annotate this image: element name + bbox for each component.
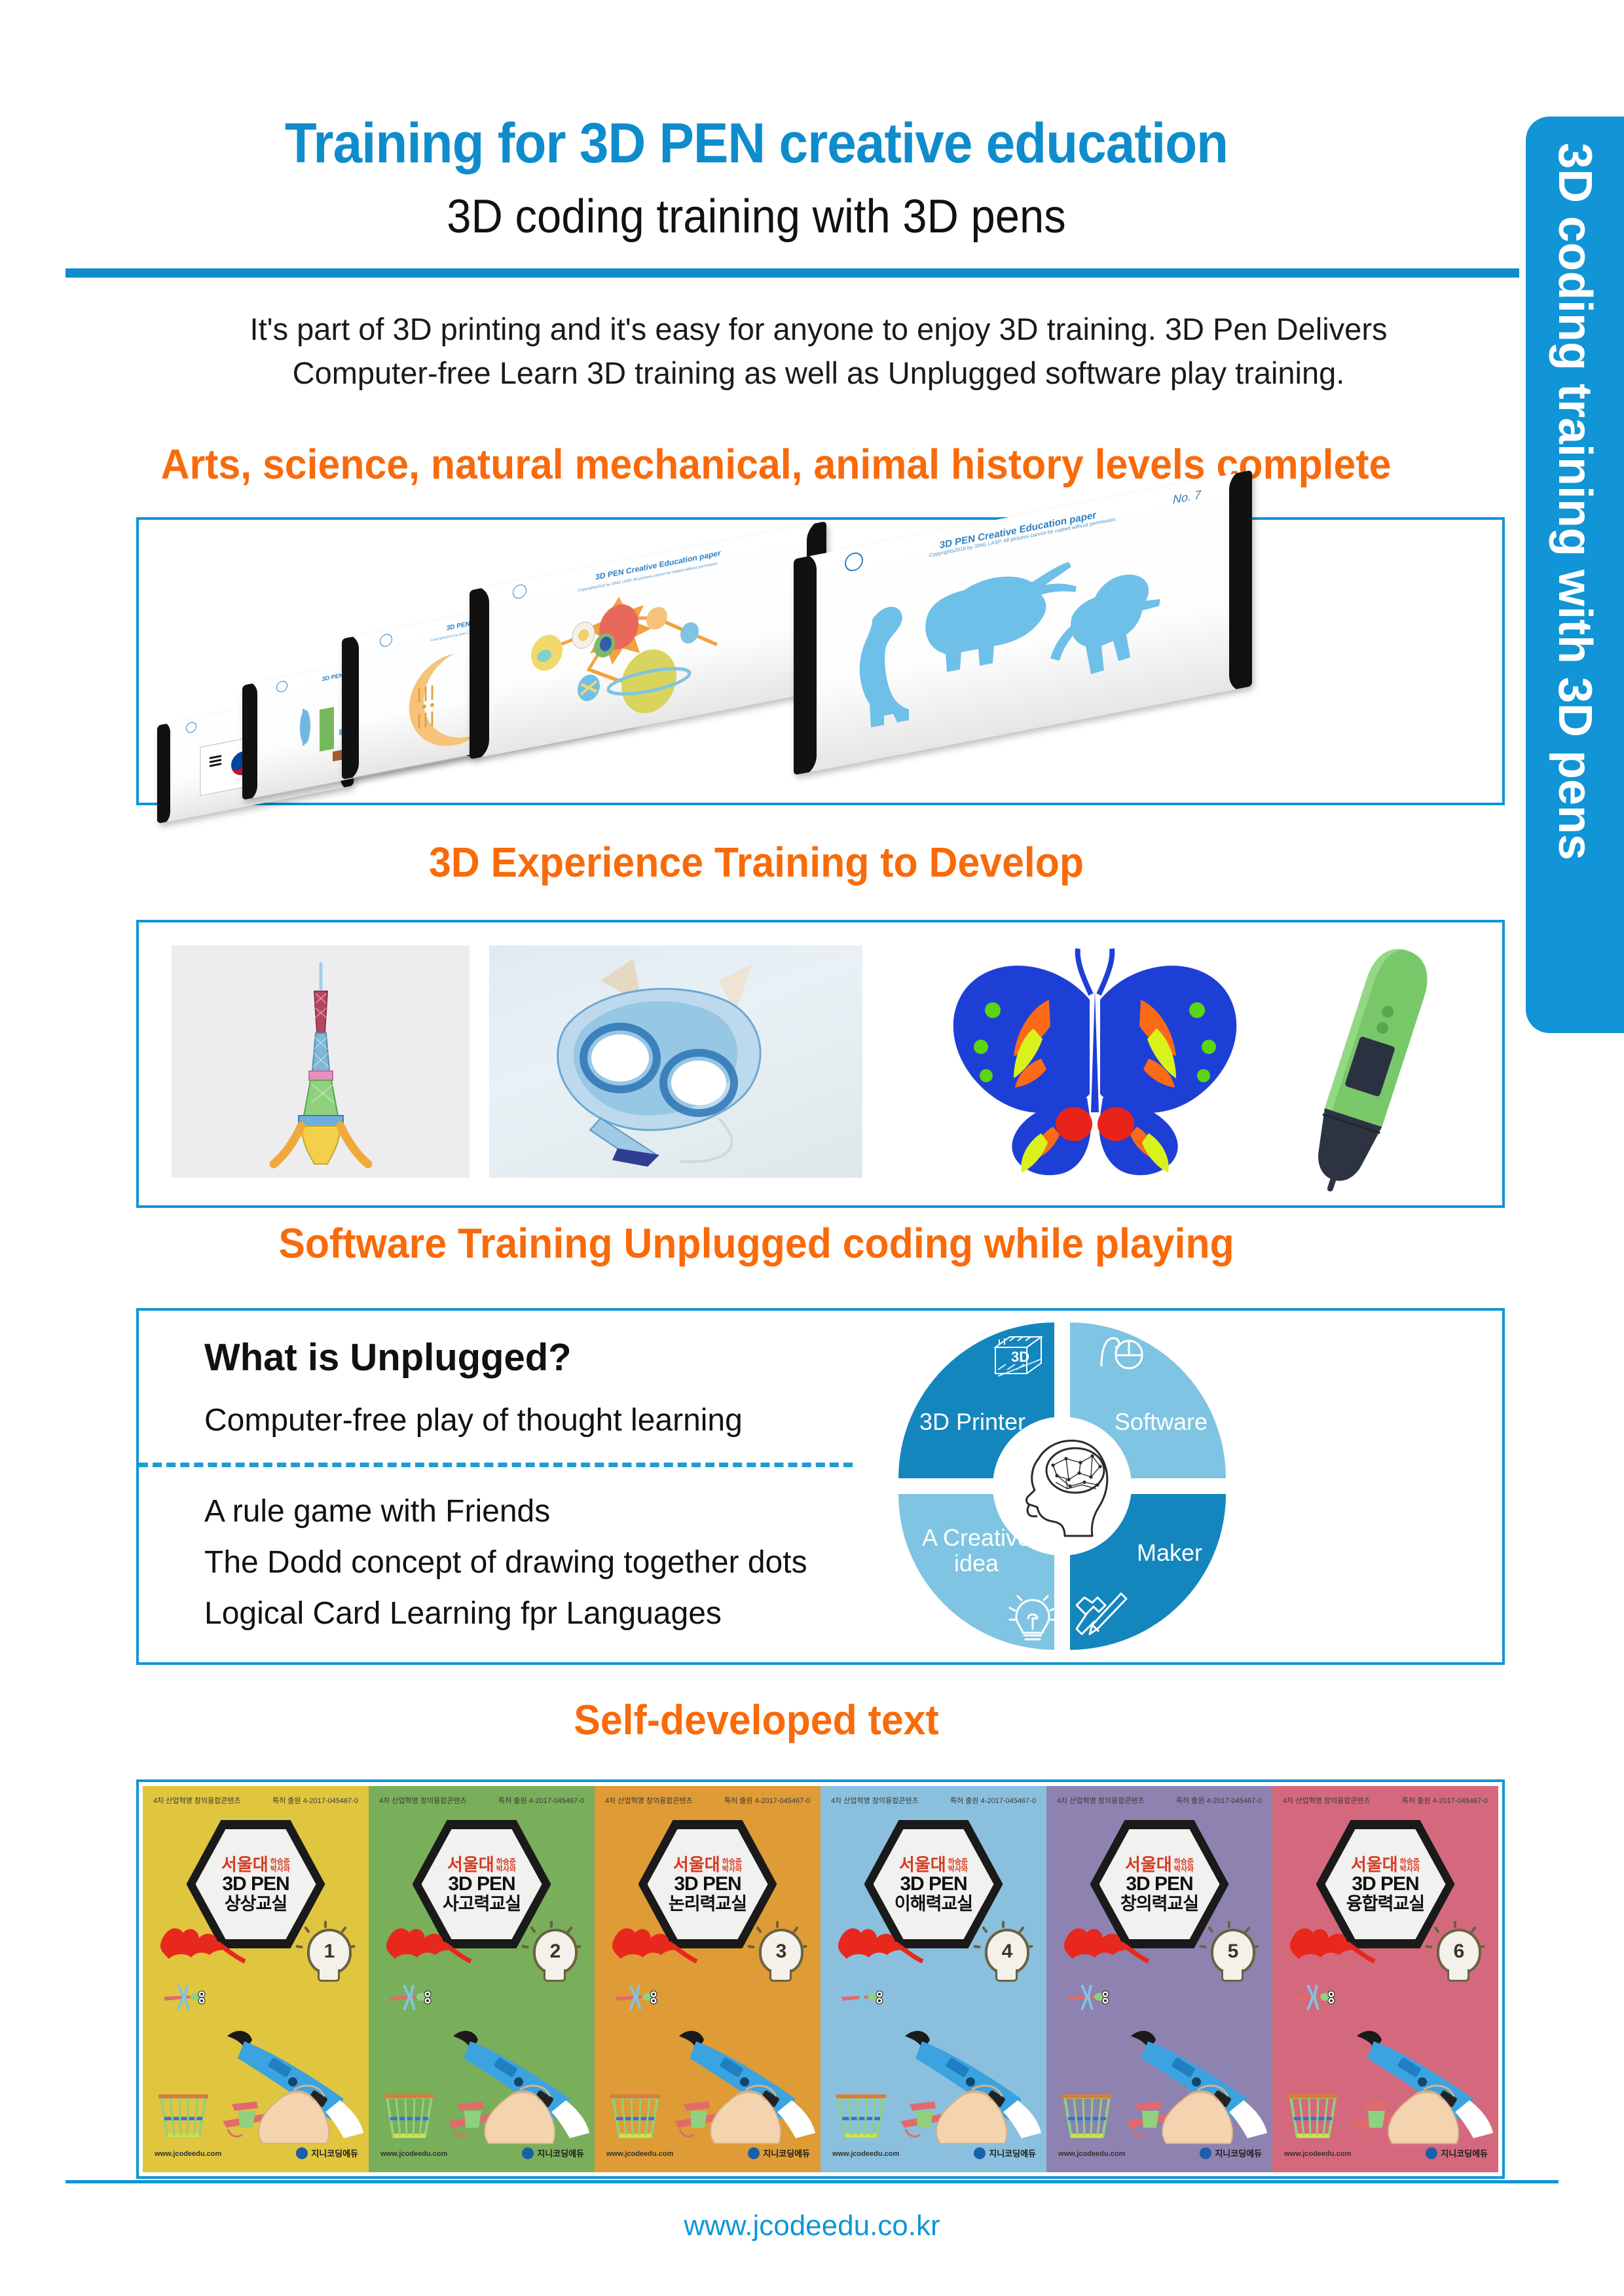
- red-scribble-art: [1287, 1923, 1385, 1976]
- books-panel: 4차 산업혁명 창의융합콘텐츠 특허 출원 4-2017-045467-0 서울…: [136, 1779, 1505, 2179]
- paper-card: 3D PEN Creative Education paper No. 7 Co…: [794, 470, 1252, 775]
- book-note-right: 특허 출원 4-2017-045467-0: [498, 1795, 584, 1806]
- basket-art: [157, 2094, 210, 2141]
- book-number: 2: [550, 1941, 561, 1963]
- book-url: www.jcodeedu.com: [155, 2150, 221, 2158]
- book-url: www.jcodeedu.com: [832, 2150, 899, 2158]
- quadrant-label-maker: Maker: [1137, 1540, 1202, 1566]
- svg-text:3D: 3D: [1011, 1349, 1029, 1365]
- book-brand: 지니코딩에듀: [748, 2147, 810, 2159]
- hand-holding-pen-art: [215, 2022, 366, 2146]
- book-brand: 지니코딩에듀: [296, 2147, 358, 2159]
- side-tab-label: 3D coding training with 3D pens: [1526, 117, 1624, 1033]
- book-top-notes: 4차 산업혁명 창의융합콘텐츠 특허 출원 4-2017-045467-0: [831, 1795, 1036, 1806]
- card-endcap-left: [794, 550, 817, 775]
- book-note-left: 4차 산업혁명 창의융합콘텐츠: [831, 1795, 919, 1806]
- unplugged-lead: Computer-free play of thought learning: [204, 1402, 743, 1438]
- quadrant-label-software: Software: [1115, 1409, 1208, 1435]
- book-top-notes: 4차 산업혁명 창의융합콘텐츠 특허 출원 4-2017-045467-0: [1057, 1795, 1262, 1806]
- brand-name: 지니코딩에듀: [537, 2147, 584, 2159]
- book-number-bulb: 5: [1206, 1929, 1255, 1985]
- jini-logo-icon: [186, 721, 196, 733]
- book-title: 융합력교실: [1346, 1895, 1424, 1913]
- basket-art: [1061, 2094, 1113, 2141]
- 3d-pen-butterfly: [925, 937, 1265, 1192]
- title-divider: [65, 268, 1519, 278]
- book-number-bulb: 4: [980, 1929, 1029, 1985]
- book-doctor: 하승준박사와: [722, 1859, 742, 1873]
- unplugged-panel: What is Unplugged? Computer-free play of…: [136, 1308, 1505, 1665]
- intro-line-1: It's part of 3D printing and it's easy f…: [250, 312, 1388, 346]
- dragonfly-art: [387, 1982, 446, 2014]
- book-note-left: 4차 산업혁명 창의융합콘텐츠: [1283, 1795, 1371, 1806]
- book-top-notes: 4차 산업혁명 창의융합콘텐츠 특허 출원 4-2017-045467-0: [1283, 1795, 1488, 1806]
- jini-logo-icon: [513, 583, 526, 600]
- jini-logo-icon: [276, 680, 287, 693]
- book-note-right: 특허 출원 4-2017-045467-0: [950, 1795, 1036, 1806]
- book-brand-line: 3D PEN: [222, 1874, 289, 1894]
- brand-name: 지니코딩에듀: [989, 2147, 1036, 2159]
- book-url: www.jcodeedu.com: [1284, 2150, 1351, 2158]
- page-subtitle: 3D coding training with 3D pens: [53, 190, 1460, 244]
- unplugged-heading: What is Unplugged?: [204, 1336, 572, 1379]
- brand-logo-icon: [1200, 2147, 1211, 2159]
- unplugged-divider: [139, 1463, 853, 1467]
- hammer-pencil-icon: [1071, 1588, 1128, 1641]
- book-url: www.jcodeedu.com: [1058, 2150, 1125, 2158]
- 3d-pen-butterfly-photo: [925, 937, 1265, 1192]
- brand-name: 지니코딩에듀: [1441, 2147, 1488, 2159]
- red-scribble-art: [383, 1923, 481, 1976]
- dragonfly-art: [161, 1982, 220, 2014]
- lightbulb-icon: [1008, 1591, 1057, 1643]
- book-number: 3: [776, 1941, 787, 1963]
- jini-logo-icon: [845, 551, 863, 572]
- book-number: 5: [1228, 1941, 1239, 1963]
- eiffel-tower-model: [236, 960, 406, 1169]
- papers-panel: 3D PEN Creative Education paper 3D PEN C…: [136, 517, 1505, 805]
- green-3d-pen: [1272, 936, 1468, 1197]
- book-cover: 4차 산업혁명 창의융합콘텐츠 특허 출원 4-2017-045467-0 서울…: [595, 1786, 821, 2172]
- book-university: 서울대: [673, 1856, 720, 1873]
- book-note-left: 4차 산업혁명 창의융합콘텐츠: [379, 1795, 467, 1806]
- section-heading-self-text: Self-developed text: [38, 1696, 1475, 1744]
- green-3d-pen-photo: [1272, 936, 1468, 1197]
- list-item: Logical Card Learning fpr Languages: [204, 1588, 807, 1639]
- book-url: www.jcodeedu.com: [606, 2150, 673, 2158]
- section-heading-software: Software Training Unplugged coding while…: [38, 1219, 1475, 1267]
- card-endcap-left: [470, 583, 489, 759]
- book-number-bulb: 2: [528, 1929, 578, 1985]
- list-item: The Dodd concept of drawing together dot…: [204, 1537, 807, 1588]
- book-brand: 지니코딩에듀: [1426, 2147, 1488, 2159]
- book-number-bulb: 1: [302, 1929, 352, 1985]
- red-scribble-art: [1061, 1923, 1159, 1976]
- brand-name: 지니코딩에듀: [763, 2147, 810, 2159]
- book-number: 6: [1454, 1941, 1465, 1963]
- quadrant-label-creative-idea: A Creative idea: [914, 1525, 1039, 1576]
- book-title: 이해력교실: [895, 1895, 972, 1913]
- basket-art: [609, 2094, 661, 2141]
- mouse-icon: [1098, 1333, 1146, 1374]
- section-heading-experience: 3D Experience Training to Develop: [38, 838, 1475, 886]
- book-brand: 지니코딩에듀: [522, 2147, 584, 2159]
- book-number-bulb: 6: [1431, 1929, 1481, 1985]
- brand-logo-icon: [748, 2147, 760, 2159]
- book-university: 서울대: [447, 1856, 494, 1873]
- book-note-right: 특허 출원 4-2017-045467-0: [724, 1795, 810, 1806]
- red-scribble-art: [157, 1923, 255, 1976]
- book-number: 1: [324, 1941, 335, 1963]
- book-university: 서울대: [1125, 1856, 1172, 1873]
- hand-holding-pen-art: [893, 2022, 1044, 2146]
- book-title: 상상교실: [225, 1895, 287, 1913]
- hand-holding-pen-art: [1345, 2022, 1496, 2146]
- 3d-cube-icon: 3D: [990, 1333, 1046, 1384]
- book-doctor: 하승준박사와: [496, 1859, 516, 1873]
- book-cover: 4차 산업혁명 창의융합콘텐츠 특허 출원 4-2017-045467-0 서울…: [369, 1786, 595, 2172]
- brand-name: 지니코딩에듀: [311, 2147, 358, 2159]
- intro-paragraph: It's part of 3D printing and it's easy f…: [157, 308, 1480, 395]
- book-cover: 4차 산업혁명 창의융합콘텐츠 특허 출원 4-2017-045467-0 서울…: [1046, 1786, 1272, 2172]
- book-number-bulb: 3: [754, 1929, 803, 1985]
- book-note-left: 4차 산업혁명 창의융합콘텐츠: [1057, 1795, 1145, 1806]
- dragonfly-art: [613, 1982, 672, 2014]
- creations-panel: [136, 920, 1505, 1208]
- 3d-pen-mask: [502, 955, 849, 1169]
- book-doctor: 하승준박사와: [270, 1859, 290, 1873]
- list-item: A rule game with Friends: [204, 1486, 807, 1537]
- book-brand-line: 3D PEN: [674, 1874, 741, 1894]
- book-brand-line: 3D PEN: [900, 1874, 967, 1894]
- book-brand: 지니코딩에듀: [1200, 2147, 1262, 2159]
- book-doctor: 하승준박사와: [948, 1859, 968, 1873]
- footer-url[interactable]: www.jcodeedu.co.kr: [0, 2210, 1624, 2242]
- dragonfly-art: [1065, 1982, 1124, 2014]
- card-endcap-left: [242, 679, 257, 800]
- jini-logo-icon: [380, 633, 392, 648]
- book-note-left: 4차 산업혁명 창의융합콘텐츠: [605, 1795, 693, 1806]
- basket-art: [1287, 2094, 1339, 2141]
- card-endcap-right: [1229, 470, 1252, 695]
- hand-holding-pen-art: [441, 2022, 592, 2146]
- brand-logo-icon: [522, 2147, 534, 2159]
- book-university: 서울대: [899, 1856, 946, 1873]
- card-endcap-left: [157, 719, 170, 824]
- hand-holding-pen-art: [667, 2022, 818, 2146]
- book-cover: 4차 산업혁명 창의융합콘텐츠 특허 출원 4-2017-045467-0 서울…: [821, 1786, 1046, 2172]
- dragonfly-art: [839, 1982, 898, 2014]
- paper-card: 3D PEN Creative Education paper Copyrigh…: [470, 521, 826, 759]
- book-brand-line: 3D PEN: [1126, 1874, 1192, 1894]
- book-title: 창의력교실: [1120, 1895, 1198, 1913]
- book-note-right: 특허 출원 4-2017-045467-0: [272, 1795, 358, 1806]
- red-scribble-art: [609, 1923, 707, 1976]
- books-row: 4차 산업혁명 창의융합콘텐츠 특허 출원 4-2017-045467-0 서울…: [143, 1786, 1498, 2172]
- intro-line-2: Computer-free Learn 3D training as well …: [293, 355, 1345, 390]
- basket-art: [383, 2094, 435, 2141]
- brand-name: 지니코딩에듀: [1215, 2147, 1262, 2159]
- card-endcap-left: [342, 632, 359, 780]
- book-note-left: 4차 산업혁명 창의융합콘텐츠: [153, 1795, 241, 1806]
- dragonfly-art: [1291, 1982, 1350, 2014]
- book-brand: 지니코딩에듀: [974, 2147, 1036, 2159]
- brand-logo-icon: [1426, 2147, 1437, 2159]
- unplugged-circle-diagram: 3D: [898, 1322, 1226, 1650]
- book-brand-line: 3D PEN: [448, 1874, 515, 1894]
- book-university: 서울대: [221, 1856, 268, 1873]
- book-note-right: 특허 출원 4-2017-045467-0: [1402, 1795, 1488, 1806]
- side-tab: 3D coding training with 3D pens: [1526, 117, 1624, 1033]
- book-number: 4: [1002, 1941, 1013, 1963]
- section-heading-arts: Arts, science, natural mechanical, anima…: [39, 440, 1513, 488]
- book-university: 서울대: [1351, 1856, 1398, 1873]
- unplugged-list: A rule game with Friends The Dodd concep…: [204, 1486, 807, 1639]
- book-doctor: 하승준박사와: [1174, 1859, 1194, 1873]
- book-title: 논리력교실: [669, 1895, 747, 1913]
- hand-holding-pen-art: [1119, 2022, 1270, 2146]
- book-title: 사고력교실: [443, 1895, 521, 1913]
- red-scribble-art: [835, 1923, 933, 1976]
- page-title: Training for 3D PEN creative education: [53, 111, 1460, 176]
- basket-art: [835, 2094, 887, 2141]
- quadrant-label-3d-printer: 3D Printer: [919, 1409, 1025, 1435]
- brand-logo-icon: [296, 2147, 308, 2159]
- eiffel-tower-photo: [172, 945, 470, 1178]
- book-doctor: 하승준박사와: [1400, 1859, 1420, 1873]
- book-url: www.jcodeedu.com: [380, 2150, 447, 2158]
- book-brand-line: 3D PEN: [1352, 1874, 1418, 1894]
- book-note-right: 특허 출원 4-2017-045467-0: [1176, 1795, 1262, 1806]
- footer-divider: [65, 2180, 1559, 2183]
- book-cover: 4차 산업혁명 창의융합콘텐츠 특허 출원 4-2017-045467-0 서울…: [1272, 1786, 1498, 2172]
- book-top-notes: 4차 산업혁명 창의융합콘텐츠 특허 출원 4-2017-045467-0: [605, 1795, 810, 1806]
- book-top-notes: 4차 산업혁명 창의융합콘텐츠 특허 출원 4-2017-045467-0: [153, 1795, 358, 1806]
- brand-logo-icon: [974, 2147, 986, 2159]
- book-cover: 4차 산업혁명 창의융합콘텐츠 특허 출원 4-2017-045467-0 서울…: [143, 1786, 369, 2172]
- 3d-pen-mask-photo: [489, 945, 862, 1178]
- book-top-notes: 4차 산업혁명 창의융합콘텐츠 특허 출원 4-2017-045467-0: [379, 1795, 584, 1806]
